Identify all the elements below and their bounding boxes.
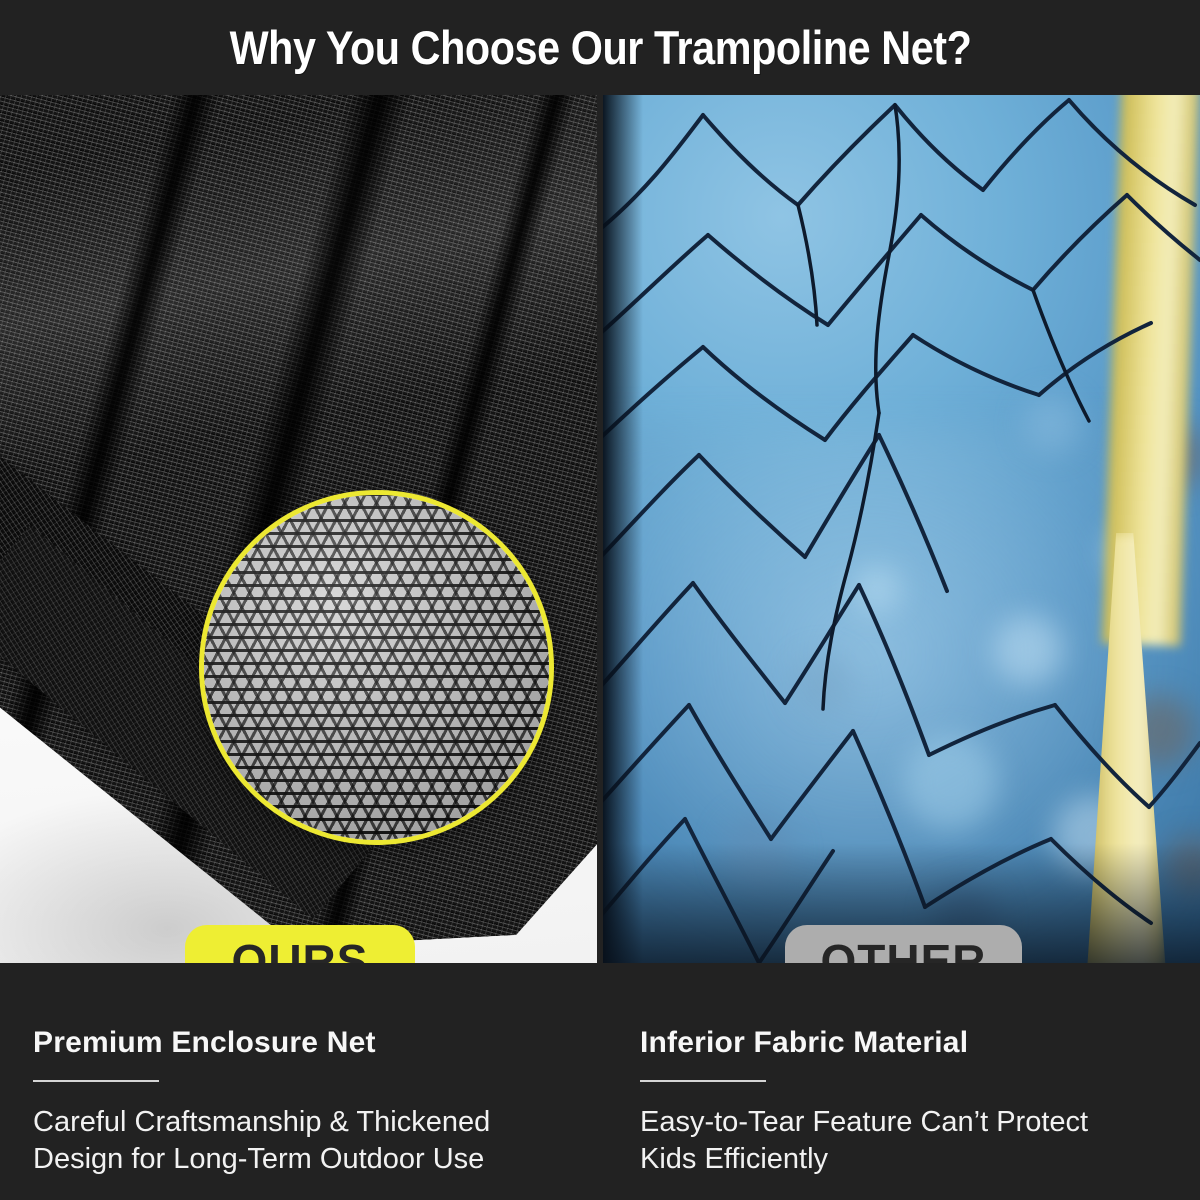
magnifier-circle [199, 490, 554, 845]
other-description-line1: Easy-to-Tear Feature Can’t Protect [640, 1104, 1170, 1141]
ours-photo-panel [0, 95, 597, 963]
header-bar: Why You Choose Our Trampoline Net? [0, 0, 1200, 95]
photo-edge-shadow [603, 95, 643, 963]
comparison-photo-row [0, 95, 1200, 963]
other-heading: Inferior Fabric Material [640, 963, 1200, 1058]
page-title: Why You Choose Our Trampoline Net? [229, 24, 971, 71]
ours-description: Careful Craftsmanship & Thickened Design… [33, 1104, 563, 1178]
other-description-line2: Kids Efficiently [640, 1141, 1170, 1178]
other-description: Easy-to-Tear Feature Can’t Protect Kids … [640, 1104, 1170, 1178]
ours-text-column: Premium Enclosure Net Careful Craftsmans… [33, 963, 593, 1178]
comparison-text-row: Premium Enclosure Net Careful Craftsmans… [0, 963, 1200, 1200]
ours-divider [33, 1080, 159, 1082]
ours-description-line2: Design for Long-Term Outdoor Use [33, 1141, 563, 1178]
ours-heading: Premium Enclosure Net [33, 963, 593, 1058]
ours-description-line1: Careful Craftsmanship & Thickened [33, 1104, 563, 1141]
torn-net-strands [603, 95, 1200, 963]
inferior-net-photo [603, 95, 1200, 963]
magnifier-glass-shading [204, 495, 549, 840]
other-divider [640, 1080, 766, 1082]
other-photo-panel [603, 95, 1200, 963]
premium-net-photo [0, 95, 597, 963]
other-text-column: Inferior Fabric Material Easy-to-Tear Fe… [640, 963, 1200, 1178]
